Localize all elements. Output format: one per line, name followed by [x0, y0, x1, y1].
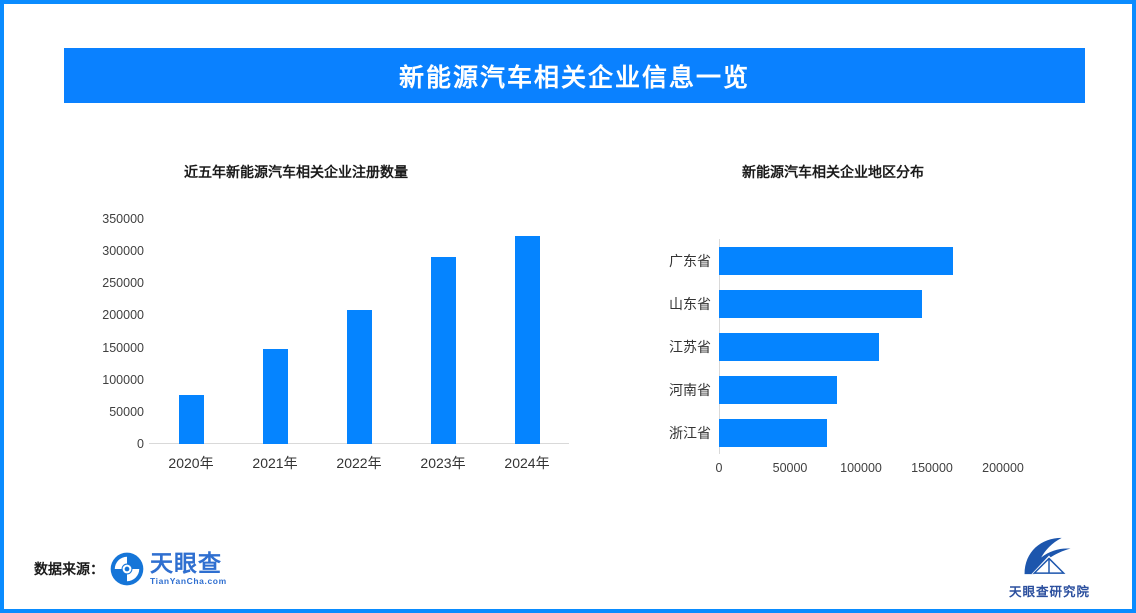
region-distribution-panel: 新能源汽车相关企业地区分布 广东省山东省江苏省河南省浙江省 0500001000…: [624, 144, 1084, 514]
bar-column: [486, 219, 568, 444]
y-tick-label: 150000: [102, 341, 144, 355]
x-tick-label: 50000: [773, 461, 808, 475]
x-tick-label: 0: [716, 461, 723, 475]
bar-series: 广东省山东省江苏省河南省浙江省: [719, 239, 1019, 454]
bar: [719, 419, 827, 447]
bar: [431, 257, 456, 444]
right-chart-title: 新能源汽车相关企业地区分布: [742, 162, 924, 182]
category-label: 山东省: [641, 294, 711, 314]
bar: [263, 349, 288, 444]
x-tick-label: 2023年: [402, 453, 484, 473]
bar: [179, 395, 204, 445]
bar-row: 广东省: [719, 247, 1019, 275]
x-axis-tick-labels: 050000100000150000200000: [719, 461, 1019, 481]
y-tick-label: 0: [137, 437, 144, 451]
data-source-label: 数据来源：: [34, 559, 104, 579]
poster-frame: 新能源汽车相关企业信息一览 近五年新能源汽车相关企业注册数量 350000300…: [0, 0, 1136, 613]
tianyancha-logo: 天眼查 TianYanCha.com: [110, 552, 227, 586]
vertical-bar-chart: 3500003000002500002000001500001000005000…: [149, 219, 569, 459]
bar: [719, 333, 879, 361]
category-label: 江苏省: [641, 337, 711, 357]
bar-row: 浙江省: [719, 419, 1019, 447]
tianyancha-mark-icon: [110, 552, 144, 586]
horizontal-bar-chart: 广东省山东省江苏省河南省浙江省 050000100000150000200000: [719, 239, 1019, 469]
y-tick-label: 100000: [102, 373, 144, 387]
y-tick-label: 350000: [102, 212, 144, 226]
tianyancha-wordmark: 天眼查 TianYanCha.com: [150, 552, 227, 586]
bar-series: [149, 219, 569, 444]
x-tick-label: 150000: [911, 461, 953, 475]
x-tick-label: 2021年: [234, 453, 316, 473]
y-tick-label: 250000: [102, 276, 144, 290]
research-institute-mark-icon: [1019, 534, 1079, 578]
y-tick-label: 50000: [109, 405, 144, 419]
bar-column: [150, 219, 232, 444]
category-label: 广东省: [641, 251, 711, 271]
registration-chart-panel: 近五年新能源汽车相关企业注册数量 35000030000025000020000…: [64, 144, 594, 514]
category-label: 浙江省: [641, 423, 711, 443]
bar: [347, 310, 372, 444]
bar-column: [234, 219, 316, 444]
bar: [515, 236, 540, 444]
bar-row: 河南省: [719, 376, 1019, 404]
category-label: 河南省: [641, 380, 711, 400]
bar: [719, 290, 922, 318]
y-tick-label: 300000: [102, 244, 144, 258]
page-title: 新能源汽车相关企业信息一览: [399, 58, 750, 94]
x-tick-label: 2024年: [486, 453, 568, 473]
left-chart-title: 近五年新能源汽车相关企业注册数量: [184, 162, 408, 182]
x-tick-label: 2022年: [318, 453, 400, 473]
research-institute-logo: 天眼查研究院: [1009, 534, 1090, 600]
research-institute-name: 天眼查研究院: [1009, 581, 1090, 600]
tianyancha-name-en: TianYanCha.com: [150, 577, 227, 586]
bar: [719, 247, 953, 275]
x-tick-label: 200000: [982, 461, 1024, 475]
y-axis-tick-labels: 3500003000002500002000001500001000005000…: [84, 219, 144, 444]
x-axis-tick-labels: 2020年2021年2022年2023年2024年: [149, 453, 569, 473]
data-source-footer: 数据来源： 天眼查 TianYanCha.com: [34, 552, 227, 586]
bar-column: [402, 219, 484, 444]
bar-row: 山东省: [719, 290, 1019, 318]
bar: [719, 376, 837, 404]
title-banner: 新能源汽车相关企业信息一览: [64, 48, 1085, 103]
y-tick-label: 200000: [102, 308, 144, 322]
x-tick-label: 100000: [840, 461, 882, 475]
bar-row: 江苏省: [719, 333, 1019, 361]
x-tick-label: 2020年: [150, 453, 232, 473]
bar-column: [318, 219, 400, 444]
tianyancha-name-cn: 天眼查: [150, 552, 227, 575]
